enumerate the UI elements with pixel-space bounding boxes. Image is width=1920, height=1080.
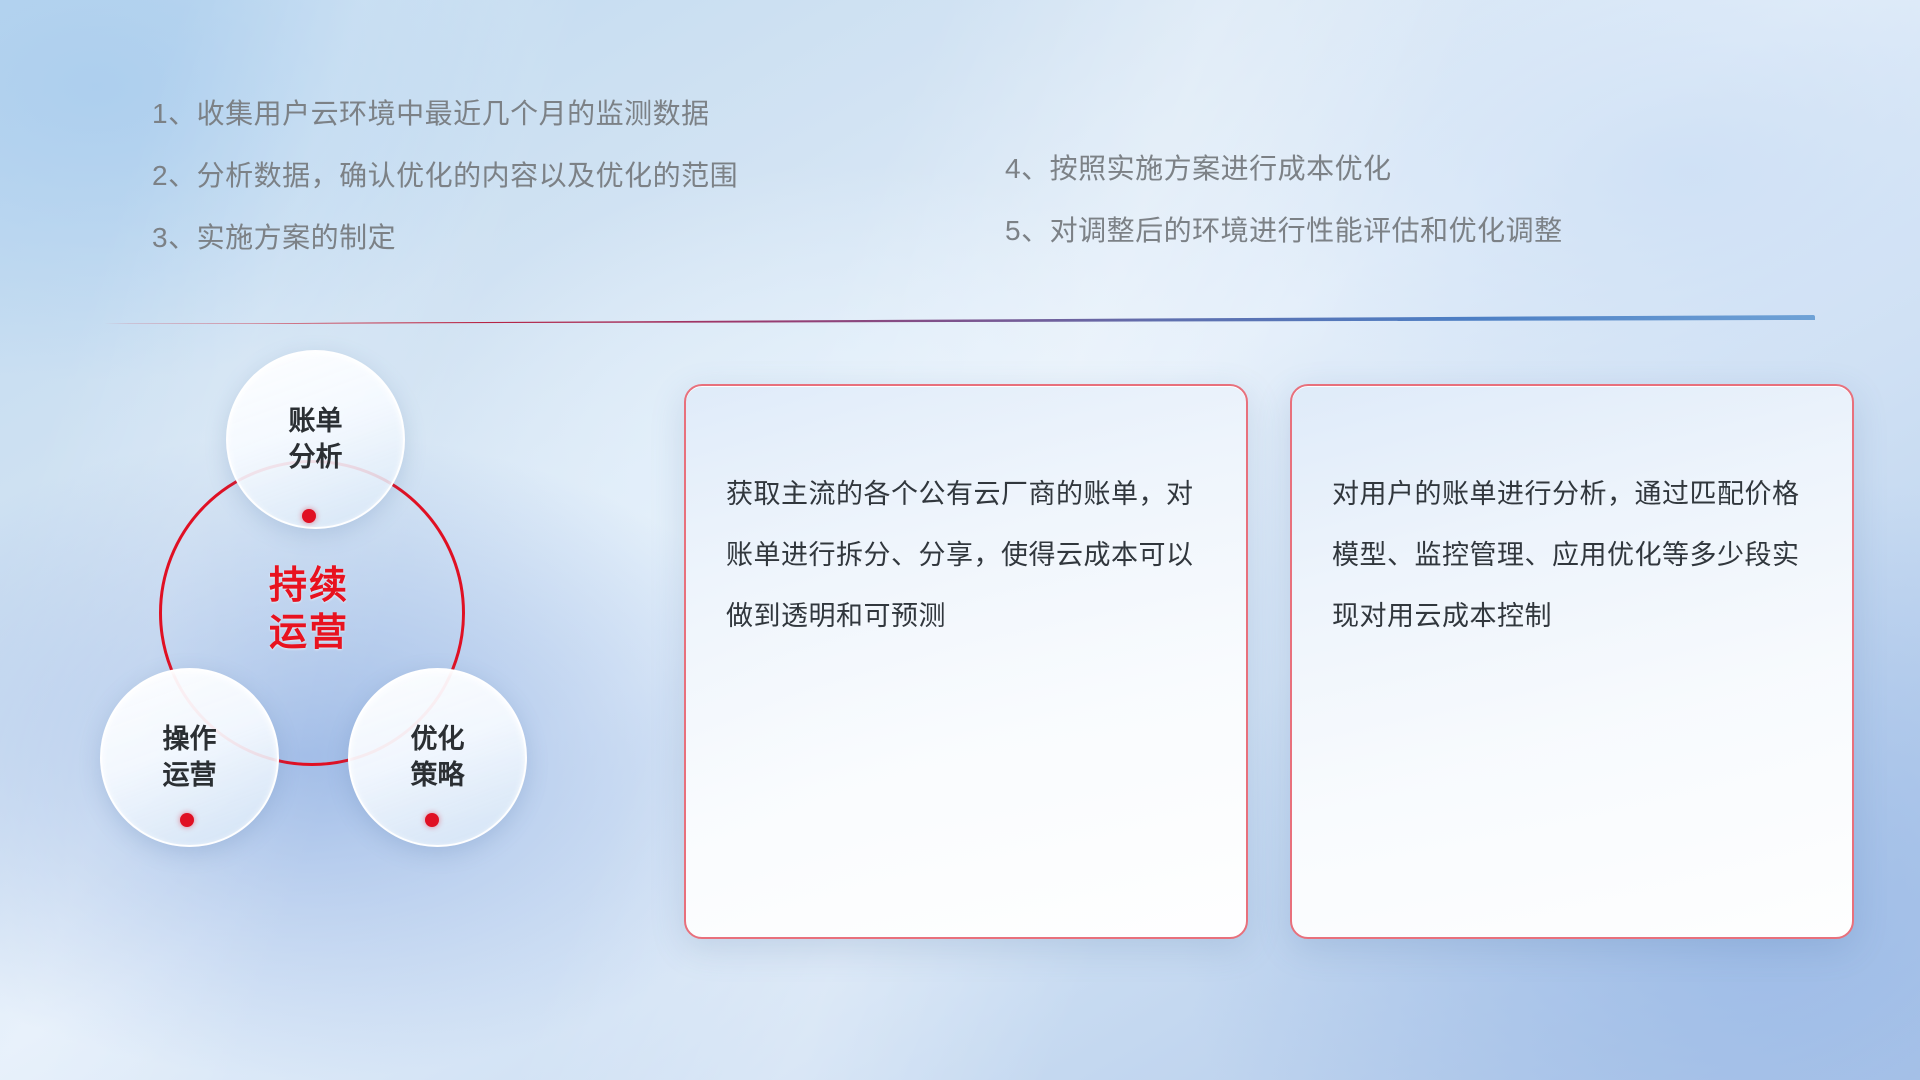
diagram-center-label-line2: 运营: [269, 610, 349, 658]
slide-canvas: 1、收集用户云环境中最近几个月的监测数据 2、分析数据，确认优化的内容以及优化的…: [0, 0, 1920, 1080]
section-divider-rule: [103, 315, 1815, 324]
diagram-center-label: 持续 运营: [209, 535, 409, 685]
process-list-item: 2、分析数据，确认优化的内容以及优化的范围: [152, 162, 738, 190]
feature-card-multicloud-billing[interactable]: 获取主流的各个公有云厂商的账单，对账单进行拆分、分享，使得云成本可以做到透明和可…: [684, 384, 1248, 939]
process-list-item: 4、按照实施方案进行成本优化: [1005, 155, 1563, 183]
process-list-right: 4、按照实施方案进行成本优化 5、对调整后的环境进行性能评估和优化调整: [1005, 155, 1563, 279]
feature-card-cost-optimization[interactable]: 对用户的账单进行分析，通过匹配价格模型、监控管理、应用优化等多少段实现对用云成本…: [1290, 384, 1854, 939]
feature-card-body: 对用户的账单进行分析，通过匹配价格模型、监控管理、应用优化等多少段实现对用云成本…: [1332, 464, 1818, 646]
continuous-operation-diagram: 账单 分析 操作 运营 优化 策略 持续 运营: [80, 350, 600, 950]
diagram-node-dot-left: [180, 813, 194, 827]
process-list-left: 1、收集用户云环境中最近几个月的监测数据 2、分析数据，确认优化的内容以及优化的…: [152, 100, 738, 286]
diagram-bubble-label: 操作 运营: [163, 722, 217, 792]
diagram-bubble-label: 账单 分析: [289, 404, 343, 474]
diagram-node-dot-right: [425, 813, 439, 827]
process-list-item: 1、收集用户云环境中最近几个月的监测数据: [152, 100, 738, 128]
process-list-item: 5、对调整后的环境进行性能评估和优化调整: [1005, 217, 1563, 245]
diagram-center-label-line1: 持续: [269, 563, 349, 611]
diagram-bubble-bill-analysis[interactable]: 账单 分析: [226, 350, 405, 529]
diagram-node-dot-top: [302, 509, 316, 523]
process-list-item: 3、实施方案的制定: [152, 224, 738, 252]
diagram-bubble-label: 优化 策略: [411, 722, 465, 792]
feature-card-body: 获取主流的各个公有云厂商的账单，对账单进行拆分、分享，使得云成本可以做到透明和可…: [726, 464, 1212, 646]
